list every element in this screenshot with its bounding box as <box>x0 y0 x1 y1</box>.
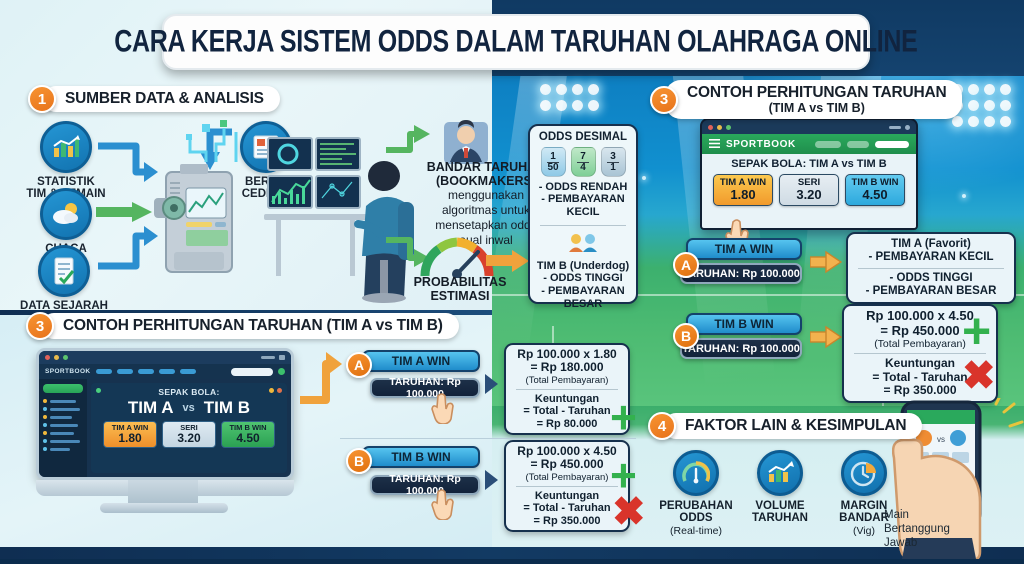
info-l3: - ODDS TINGGI <box>889 272 972 284</box>
factor-2-l1: VOLUME <box>734 500 826 512</box>
sidebar-primary-button[interactable] <box>43 384 83 393</box>
browser-titlebar <box>702 120 916 134</box>
sidebar-item[interactable] <box>43 399 83 403</box>
arrow-to-bookmaker-icon <box>384 122 432 156</box>
plus-mark-left-a: + <box>610 394 637 440</box>
calc-b-left-r5: = Total - Taruhan <box>523 502 610 514</box>
monitor-close-dot[interactable] <box>45 355 50 360</box>
section-4-pill: FAKTOR LAIN & KESIMPULAN <box>663 413 922 439</box>
monitor-sidebar <box>39 379 87 477</box>
calc-b-left-r6: = Rp 350.000 <box>534 515 601 527</box>
browser-nav-bar: SPORTBOOK <box>702 134 916 154</box>
calc-a-left-r3: (Total Pembayaran) <box>512 375 622 386</box>
arrow-sejarah-to-machine-icon <box>96 218 160 274</box>
tim-a-favorit-info-box: TIM A (Favorit) - PEMBAYARAN KECIL - ODD… <box>846 232 1016 304</box>
monitor-teams-row: TIM A vs TIM B <box>95 398 283 418</box>
calc-b-r6: = Rp 350.000 <box>883 383 956 397</box>
bet-b-pick-right[interactable]: TIM B WIN <box>686 313 802 335</box>
page-title-text: CARA KERJA SISTEM ODDS DALAM TARUHAN OLA… <box>114 24 917 59</box>
page-title: CARA KERJA SISTEM ODDS DALAM TARUHAN OLA… <box>162 14 870 70</box>
odds-button-seri[interactable]: SERI 3.20 <box>779 174 839 206</box>
section-4-number: 4 <box>648 412 676 440</box>
calc-a-left-r4: Keuntungan <box>535 393 599 405</box>
vs-label: vs <box>183 402 195 414</box>
section-3-left-title: CONTOH PERHITUNGAN TARUHAN (TIM A vs TIM… <box>63 317 443 335</box>
bet-a-pick-right[interactable]: TIM A WIN <box>686 238 802 260</box>
document-check-icon <box>38 245 90 297</box>
odds-card-heading: ODDS DESIMAL <box>534 131 632 143</box>
factor-1-sub: (Real-time) <box>650 525 742 537</box>
monitor-nav-1[interactable] <box>96 369 112 374</box>
monitor-account-dot[interactable] <box>278 368 285 375</box>
monitor-nav-4[interactable] <box>159 369 175 374</box>
bar-chart-icon <box>40 121 92 173</box>
section-1-heading: 1 SUMBER DATA & ANALISIS <box>28 85 280 113</box>
floodlight-left-icon <box>540 84 599 111</box>
calc-b-left-r2: = Rp 450.000 <box>512 458 622 471</box>
section-3-right-heading: 3 CONTOH PERHITUNGAN TARUHAN (TIM A vs T… <box>650 80 962 119</box>
two-players-icon <box>534 233 632 258</box>
arrow-bet-b-calc-left-icon <box>485 470 499 490</box>
section-4-title: FAKTOR LAIN & KESIMPULAN <box>685 417 906 435</box>
section-4-heading: 4 FAKTOR LAIN & KESIMPULAN <box>648 412 922 440</box>
calc-b-left-r1: Rp 100.000 x 4.50 <box>512 445 622 458</box>
monitor-base <box>100 503 228 513</box>
hamburger-menu-icon[interactable] <box>709 135 720 153</box>
info-l2: - PEMBAYARAN KECIL <box>868 251 993 263</box>
source-data-sejarah-label: DATA SEJARAH <box>16 300 112 312</box>
factor-1-l1: PERUBAHAN <box>650 500 742 512</box>
pointing-hand-icon-bet-a <box>430 392 458 424</box>
arrow-monitor-to-bets-icon <box>296 348 344 406</box>
bet-a-pick-left[interactable]: TIM A WIN <box>362 350 480 372</box>
data-stream-icon <box>176 118 248 166</box>
monitor-brand-label: SPORTBOOK <box>45 368 91 375</box>
arrow-bet-b-right-icon <box>810 325 842 349</box>
section-3-right-subtitle: (TIM A vs TIM B) <box>769 101 865 115</box>
factor-volume-taruhan: VOLUME TARUHAN <box>734 450 826 525</box>
factor-1-l2: ODDS <box>650 512 742 524</box>
underdog-bullet-1: - ODDS TINGGI <box>534 272 632 285</box>
bet-a-badge-right: A <box>673 252 699 278</box>
underdog-title: TIM B (Underdog) <box>534 260 632 273</box>
bet-rows-separator <box>340 438 636 439</box>
calc-b-r5: = Total - Taruhan <box>872 370 967 384</box>
window-minimize-dot[interactable] <box>717 125 722 130</box>
section-3-left-number: 3 <box>26 312 54 340</box>
arrow-to-odds-card-icon <box>486 248 530 274</box>
calc-b-left-r4: Keuntungan <box>535 490 599 502</box>
responsible-l1: Main <box>884 508 970 522</box>
sidebar-item[interactable] <box>43 439 83 443</box>
sportbook-browser-mockup[interactable]: SPORTBOOK SEPAK BOLA: TIM A vs TIM B TIM… <box>700 118 918 230</box>
nav-pill-2[interactable] <box>847 141 869 148</box>
section-3-left-pill: CONTOH PERHITUNGAN TARUHAN (TIM A vs TIM… <box>41 313 459 339</box>
team-b-label: TIM B <box>204 398 250 418</box>
monitor-odds-row: TIM A WIN 1.80 SERI 3.20 TIM B WIN 4.50 <box>95 421 283 448</box>
responsible-gaming-note: Main Bertanggung Jawab <box>884 508 970 550</box>
bet-b-badge-left: B <box>346 448 372 474</box>
arrow-bet-a-right-icon <box>810 250 842 274</box>
odds-bullet-2: - PEMBAYARAN <box>534 193 632 205</box>
sidebar-item[interactable] <box>43 415 83 419</box>
monitor-nav-2[interactable] <box>117 369 133 374</box>
browser-match-title: SEPAK BOLA: TIM A vs TIM B <box>708 158 910 170</box>
bet-b-stake-left[interactable]: TARUHAN: Rp 100.000 <box>370 475 480 495</box>
monitor-nav-5[interactable] <box>180 369 196 374</box>
info-l4: - PEMBAYARAN BESAR <box>866 285 997 297</box>
section-1-title: SUMBER DATA & ANALISIS <box>65 90 264 108</box>
monitor-titlebar <box>39 351 291 364</box>
nav-search-pill[interactable] <box>875 141 909 148</box>
responsible-l3: Jawab <box>884 536 970 550</box>
bet-a-stake-left[interactable]: TARUHAN: Rp 100.000 <box>370 378 480 398</box>
sportbook-monitor-mockup[interactable]: SPORTBOOK <box>36 348 294 480</box>
plus-mark-right: + <box>962 306 991 356</box>
odds-button-tim-a-win[interactable]: TIM A WIN 1.80 <box>713 174 773 206</box>
info-l1: TIM A (Favorit) <box>891 238 971 250</box>
calc-a-left-r1: Rp 100.000 x 1.80 <box>512 348 622 361</box>
odds-chips: 1 50 7 4 3 1 <box>534 147 632 177</box>
cross-mark-right: ✖ <box>962 356 996 396</box>
team-a-label: TIM A <box>128 398 174 418</box>
bar-chart-up-icon <box>757 450 803 496</box>
status-dot-right-2 <box>277 388 282 393</box>
monitor-match-panel: SEPAK BOLA: TIM A vs TIM B TIM A WIN 1.8… <box>91 383 287 473</box>
odds-button-tim-b-win[interactable]: TIM B WIN 4.50 <box>845 174 905 206</box>
arrow-bet-a-calc-left-icon <box>485 374 499 394</box>
odds-desimal-card: ODDS DESIMAL 1 50 7 4 3 1 - ODDS RENDAH … <box>528 124 638 304</box>
probabilitas-label: PROBABILITAS ESTIMASI <box>400 276 520 304</box>
pointing-hand-icon-bet-b <box>430 488 458 520</box>
monitor-odds-tim-a-win[interactable]: TIM A WIN 1.80 <box>103 421 157 448</box>
calc-a-left-r2: = Rp 180.000 <box>512 361 622 374</box>
monitor-minimize-dot[interactable] <box>54 355 59 360</box>
factor-2-l2: TARUHAN <box>734 512 826 524</box>
section-3-right-number: 3 <box>650 86 678 114</box>
sidebar-item[interactable] <box>43 447 83 451</box>
underdog-bullet-2: - PEMBAYARAN <box>534 285 632 298</box>
calc-a-left-r6: = Rp 80.000 <box>537 418 598 430</box>
monitor-body: SEPAK BOLA: TIM A vs TIM B TIM A WIN 1.8… <box>39 379 291 477</box>
bet-a-badge-left: A <box>346 352 372 378</box>
monitor-nav-bar: SPORTBOOK <box>39 364 291 379</box>
responsible-l2: Bertanggung <box>884 522 970 536</box>
bet-b-stake-right[interactable]: TARUHAN: Rp 100.000 <box>680 338 802 359</box>
calc-b-r4: Keuntungan <box>885 356 955 370</box>
section-3-left-heading: 3 CONTOH PERHITUNGAN TARUHAN (TIM A vs T… <box>26 312 459 340</box>
factor-perubahan-odds: PERUBAHAN ODDS (Real-time) <box>650 450 742 537</box>
browser-content: SEPAK BOLA: TIM A vs TIM B TIM A WIN 1.8… <box>702 154 916 228</box>
data-processing-machine-icon <box>152 160 244 280</box>
sidebar-item[interactable] <box>43 423 83 427</box>
section-3-right-pill: CONTOH PERHITUNGAN TARUHAN (TIM A vs TIM… <box>665 80 962 119</box>
monitor-search-pill[interactable] <box>231 368 273 376</box>
svg-text:vs: vs <box>937 435 945 444</box>
status-dot-right-1 <box>269 388 274 393</box>
bet-b-pick-left[interactable]: TIM B WIN <box>362 446 480 468</box>
section-1-pill: SUMBER DATA & ANALISIS <box>43 86 280 112</box>
sidebar-item[interactable] <box>43 407 83 411</box>
odds-chip-2: 7 4 <box>571 147 596 177</box>
nav-pill-1[interactable] <box>815 141 841 148</box>
infographic-root: CARA KERJA SISTEM ODDS DALAM TARUHAN OLA… <box>0 0 1024 559</box>
section-1-number: 1 <box>28 85 56 113</box>
monitor-odds-tim-b-win[interactable]: TIM B WIN 4.50 <box>221 421 275 448</box>
underdog-bullet-3: BESAR <box>534 298 632 311</box>
monitor-match-label: SEPAK BOLA: <box>95 387 283 397</box>
speedometer-icon <box>673 450 719 496</box>
window-close-dot[interactable] <box>708 125 713 130</box>
sidebar-item[interactable] <box>43 431 83 435</box>
weather-cloud-sun-icon <box>40 188 92 240</box>
calc-a-left-r5: = Total - Taruhan <box>523 405 610 417</box>
bet-b-badge-right: B <box>673 323 699 349</box>
monitor-odds-seri[interactable]: SERI 3.20 <box>162 421 216 448</box>
odds-chip-1: 1 50 <box>541 147 566 177</box>
arrow-statistik-to-machine-icon <box>96 140 160 190</box>
browser-brand-label: SPORTBOOK <box>726 139 796 150</box>
monitor-maximize-dot[interactable] <box>63 355 68 360</box>
window-maximize-dot[interactable] <box>726 125 731 130</box>
odds-bullet-3: KECIL <box>534 206 632 218</box>
browser-odds-row: TIM A WIN 1.80 SERI 3.20 TIM B WIN 4.50 <box>708 174 910 206</box>
section-3-right-title: CONTOH PERHITUNGAN TARUHAN <box>687 84 946 102</box>
cross-mark-left-b: ✖ <box>612 492 646 532</box>
odds-bullet-1: - ODDS RENDAH <box>534 181 632 193</box>
status-dot-left <box>96 388 101 393</box>
monitor-nav-3[interactable] <box>138 369 154 374</box>
pie-clock-icon <box>841 450 887 496</box>
bottom-divider-bar <box>0 547 1024 559</box>
odds-chip-3: 3 1 <box>601 147 626 177</box>
calc-b-left-r3: (Total Pembayaran) <box>512 472 622 483</box>
